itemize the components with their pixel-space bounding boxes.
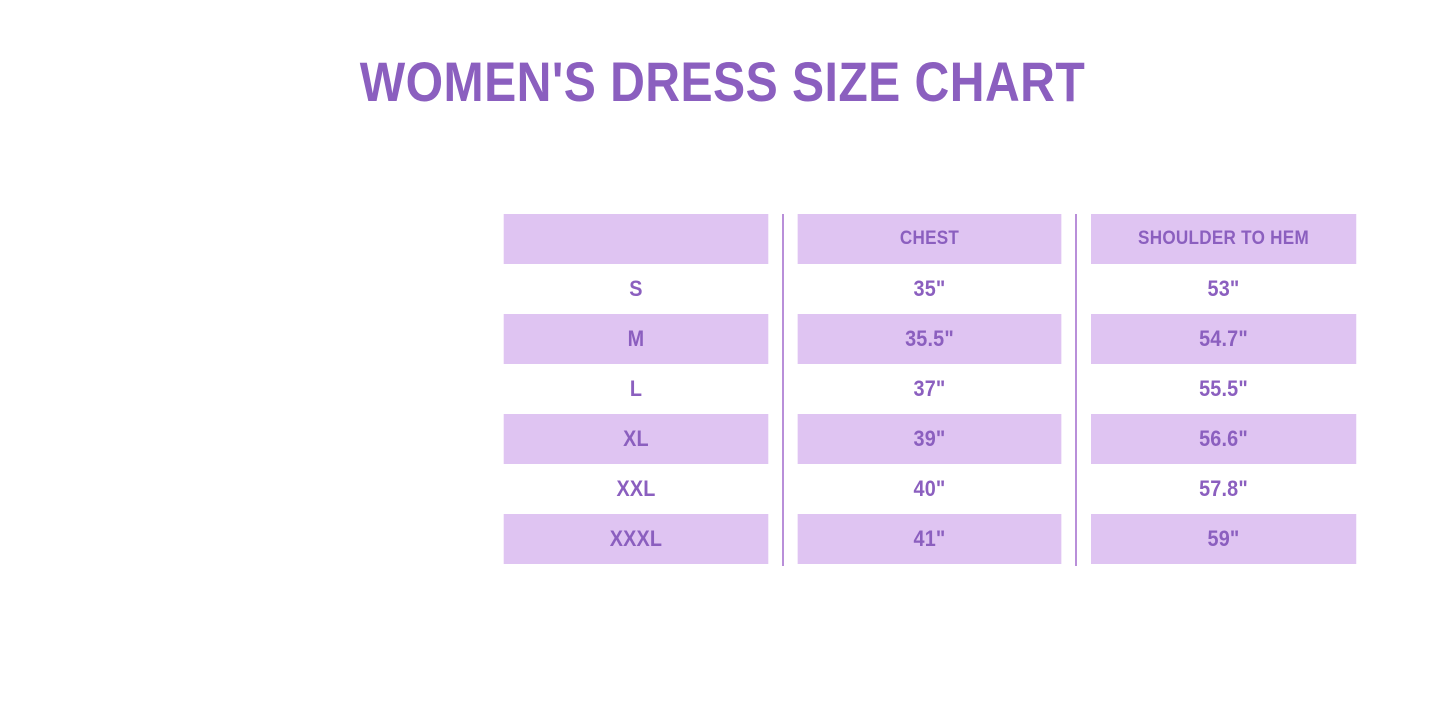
cell-size: XXL [504,464,769,514]
table-row: S 35" 53" [489,264,1371,314]
cell-shoulder-to-hem: 54.7" [1091,314,1357,364]
cell-chest: 37" [798,364,1062,414]
cell-size: S [504,264,769,314]
table-row: M 35.5" 54.7" [489,314,1371,364]
page-title: WOMEN'S DRESS SIZE CHART [101,53,1344,112]
table-row: L 37" 55.5" [489,364,1371,414]
cell-chest: 40" [798,464,1062,514]
cell-shoulder-to-hem: 59" [1091,514,1357,564]
cell-shoulder-to-hem: 57.8" [1091,464,1357,514]
cell-shoulder-to-hem: 55.5" [1091,364,1357,414]
cell-chest: 35" [798,264,1062,314]
cell-chest: 39" [798,414,1062,464]
table-row: XL 39" 56.6" [489,414,1371,464]
cell-size: M [504,314,769,364]
table-row: XXXL 41" 59" [489,514,1371,564]
size-chart-table: CHEST SHOULDER TO HEM S 35" 53" M 35.5" … [489,214,1371,564]
cell-chest: 35.5" [798,314,1062,364]
column-header-size [504,214,769,264]
cell-shoulder-to-hem: 56.6" [1091,414,1357,464]
cell-size: XL [504,414,769,464]
table-header: CHEST SHOULDER TO HEM [489,214,1371,264]
table-body: S 35" 53" M 35.5" 54.7" L 37" 55.5" XL 3… [489,264,1371,564]
table-row: XXL 40" 57.8" [489,464,1371,514]
column-header-shoulder-to-hem: SHOULDER TO HEM [1091,214,1357,264]
cell-size: L [504,364,769,414]
cell-size: XXXL [504,514,769,564]
table-header-row: CHEST SHOULDER TO HEM [489,214,1371,264]
size-chart-table-container: CHEST SHOULDER TO HEM S 35" 53" M 35.5" … [489,214,1371,566]
cell-chest: 41" [798,514,1062,564]
cell-shoulder-to-hem: 53" [1091,264,1357,314]
column-header-chest: CHEST [798,214,1062,264]
